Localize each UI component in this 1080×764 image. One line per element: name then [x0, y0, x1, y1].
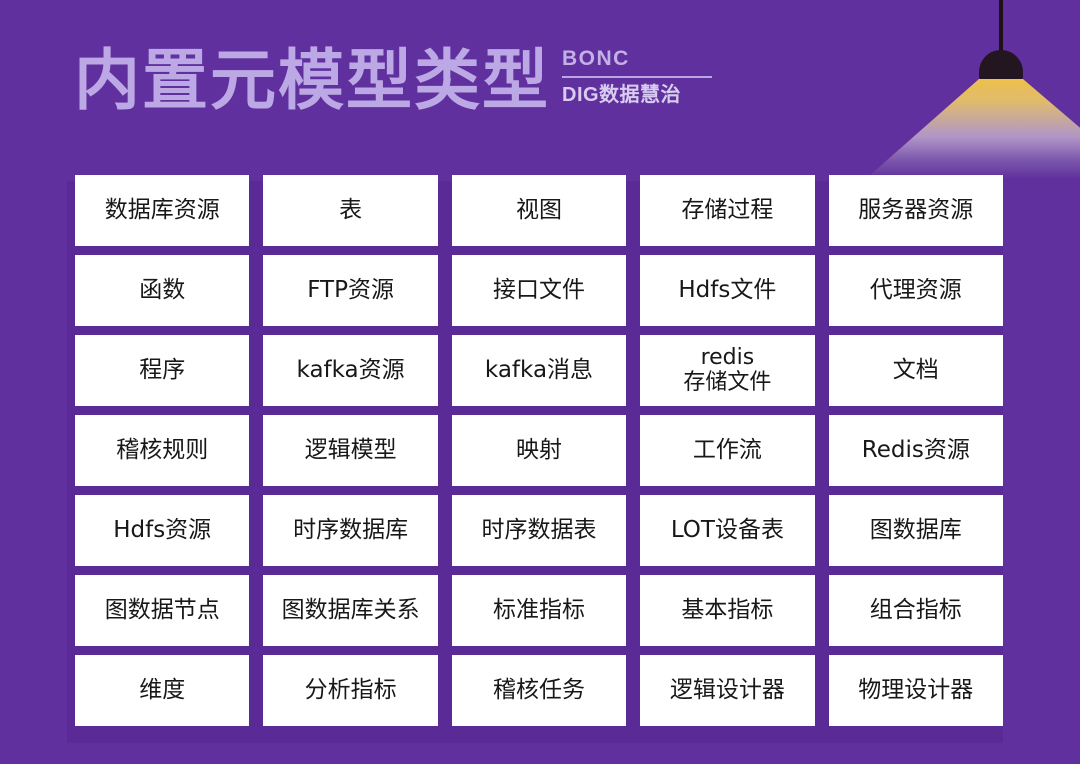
metamodel-card[interactable]: Redis资源	[829, 415, 1003, 486]
metamodel-card[interactable]: 逻辑设计器	[640, 655, 814, 726]
metamodel-card[interactable]: 服务器资源	[829, 175, 1003, 246]
metamodel-card[interactable]: 映射	[452, 415, 626, 486]
metamodel-card[interactable]: 标准指标	[452, 575, 626, 646]
metamodel-card[interactable]: 图数据库关系	[263, 575, 437, 646]
metamodel-card[interactable]: 稽核规则	[75, 415, 249, 486]
metamodel-card[interactable]: 存储过程	[640, 175, 814, 246]
brand-lockup: BONC DIG数据慧治	[562, 46, 712, 114]
lamp-dome-icon	[979, 50, 1023, 80]
metamodel-card[interactable]: 程序	[75, 335, 249, 406]
metamodel-card[interactable]: 逻辑模型	[263, 415, 437, 486]
lamp-light-beam	[860, 79, 1080, 179]
metamodel-card[interactable]: 表	[263, 175, 437, 246]
metamodel-card[interactable]: 工作流	[640, 415, 814, 486]
metamodel-card[interactable]: 物理设计器	[829, 655, 1003, 726]
metamodel-card[interactable]: 稽核任务	[452, 655, 626, 726]
metamodel-card[interactable]: 分析指标	[263, 655, 437, 726]
metamodel-card[interactable]: Hdfs资源	[75, 495, 249, 566]
metamodel-card[interactable]: 基本指标	[640, 575, 814, 646]
metamodel-card[interactable]: 函数	[75, 255, 249, 326]
page-title: 内置元模型类型	[74, 48, 550, 114]
metamodel-card[interactable]: 图数据库	[829, 495, 1003, 566]
lamp-cord-icon	[999, 0, 1003, 52]
hanging-lamp-illustration	[880, 0, 1080, 180]
metamodel-card[interactable]: 接口文件	[452, 255, 626, 326]
metamodel-card[interactable]: 时序数据表	[452, 495, 626, 566]
metamodel-card[interactable]: LOT设备表	[640, 495, 814, 566]
metamodel-card[interactable]: 时序数据库	[263, 495, 437, 566]
brand-divider	[562, 76, 712, 78]
metamodel-card[interactable]: 维度	[75, 655, 249, 726]
metamodel-card[interactable]: kafka消息	[452, 335, 626, 406]
metamodel-card[interactable]: 视图	[452, 175, 626, 246]
metamodel-card[interactable]: 文档	[829, 335, 1003, 406]
metamodel-type-grid: 数据库资源表视图存储过程服务器资源函数FTP资源接口文件Hdfs文件代理资源程序…	[75, 175, 1003, 726]
metamodel-card[interactable]: redis 存储文件	[640, 335, 814, 406]
metamodel-card[interactable]: FTP资源	[263, 255, 437, 326]
metamodel-card[interactable]: Hdfs文件	[640, 255, 814, 326]
metamodel-card[interactable]: 组合指标	[829, 575, 1003, 646]
metamodel-card[interactable]: kafka资源	[263, 335, 437, 406]
page-header: 内置元模型类型 BONC DIG数据慧治	[74, 46, 712, 114]
brand-tagline: DIG数据慧治	[562, 83, 712, 108]
metamodel-card[interactable]: 数据库资源	[75, 175, 249, 246]
metamodel-card[interactable]: 图数据节点	[75, 575, 249, 646]
brand-name: BONC	[562, 46, 712, 72]
metamodel-card[interactable]: 代理资源	[829, 255, 1003, 326]
